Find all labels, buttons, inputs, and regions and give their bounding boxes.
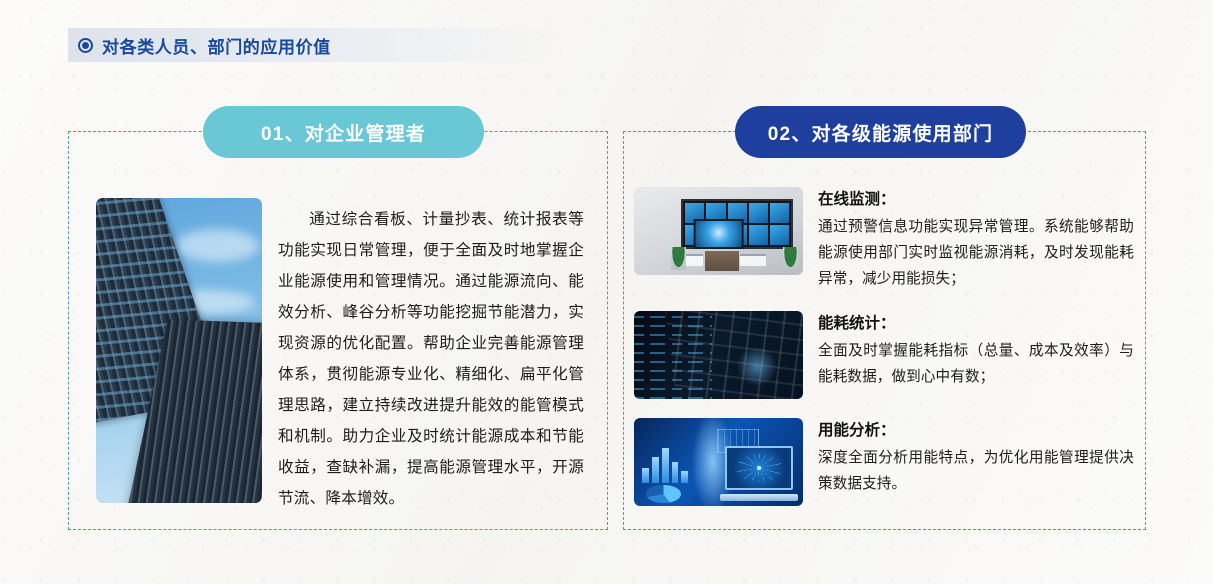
feature-row: 能耗统计： 全面及时掌握能耗指标（总量、成本及效率）与能耗数据，做到心中有数；	[634, 311, 1134, 399]
feature-description: 通过预警信息功能实现异常管理。系统能够帮助能源使用部门实时监视能源消耗，及时发现…	[818, 214, 1134, 292]
feature-title: 用能分析：	[818, 419, 1134, 443]
panel-title-pill-01: 01、对企业管理者	[203, 106, 484, 158]
target-bullet-icon	[78, 38, 93, 53]
control-room-photo	[634, 187, 803, 275]
panel-title-pill-02: 02、对各级能源使用部门	[735, 106, 1026, 158]
page-title: 对各类人员、部门的应用价值	[102, 33, 331, 58]
panel-enterprise-managers-body: 通过综合看板、计量抄表、统计报表等功能实现日常管理，便于全面及时地掌握企业能源使…	[68, 131, 608, 530]
feature-title: 在线监测：	[818, 188, 1134, 212]
skyscraper-photo	[96, 198, 262, 503]
feature-row: 用能分析： 深度全面分析用能特点，为优化用能管理提供决策数据支持。	[634, 418, 1134, 506]
keyboard-data-photo	[634, 311, 803, 399]
feature-description: 全面及时掌握能耗指标（总量、成本及效率）与能耗数据，做到心中有数；	[818, 338, 1134, 390]
feature-description: 深度全面分析用能特点，为优化用能管理提供决策数据支持。	[818, 445, 1134, 497]
analytics-dashboard-photo	[634, 418, 803, 506]
enterprise-managers-paragraph: 通过综合看板、计量抄表、统计报表等功能实现日常管理，便于全面及时地掌握企业能源使…	[278, 198, 584, 514]
feature-row: 在线监测： 通过预警信息功能实现异常管理。系统能够帮助能源使用部门实时监视能源消…	[634, 187, 1134, 292]
feature-title: 能耗统计：	[818, 312, 1134, 336]
panel-energy-departments-body: 在线监测： 通过预警信息功能实现异常管理。系统能够帮助能源使用部门实时监视能源消…	[623, 131, 1146, 530]
section-header: 对各类人员、部门的应用价值	[68, 28, 568, 62]
